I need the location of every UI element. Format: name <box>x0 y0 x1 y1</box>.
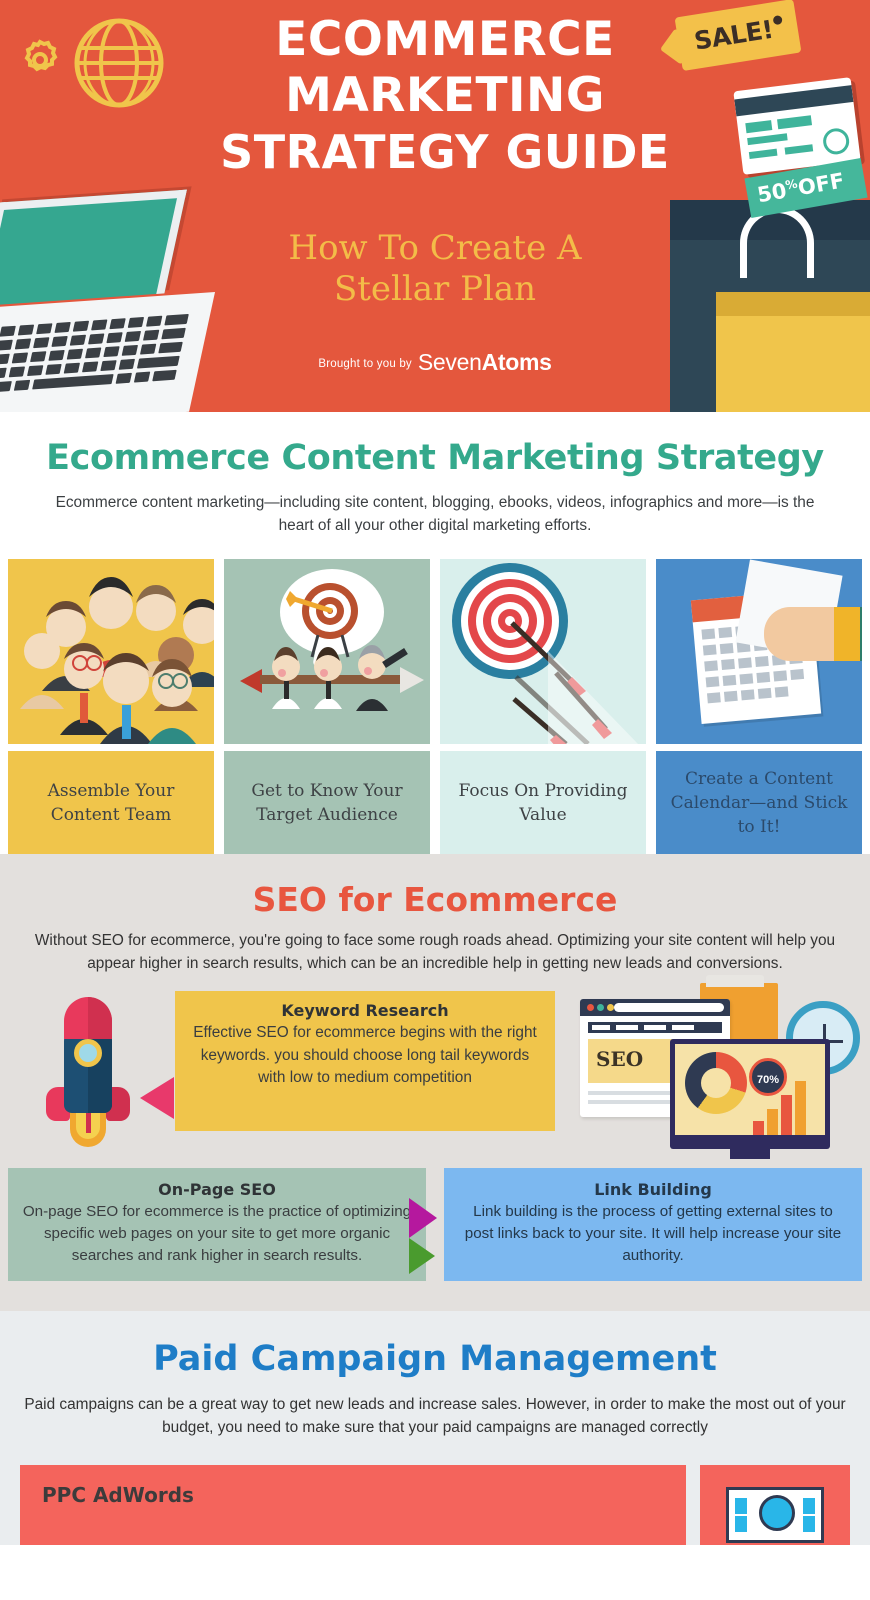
brand-attribution: Brought to you bySevenAtoms <box>0 349 870 376</box>
calendar-cell <box>773 670 787 681</box>
seo-label-block: SEO <box>588 1039 674 1083</box>
brand-part-one: Seven <box>418 349 482 375</box>
seo-row-keyword: Keyword Research Effective SEO for ecomm… <box>0 985 870 1150</box>
calendar-cell <box>755 656 769 667</box>
browser-navbar <box>588 1022 722 1033</box>
calendar-cell <box>718 627 732 638</box>
subtitle-line-1: How To Create A <box>0 228 870 269</box>
bullseye-arrows-icon <box>440 559 646 744</box>
money-icon-card <box>700 1465 850 1545</box>
page-title: ECOMMERCE MARKETING STRATEGY GUIDE <box>0 12 870 180</box>
link-building-title: Link Building <box>458 1180 848 1199</box>
calendar-cell <box>756 672 770 683</box>
monitor-screen: 70% <box>675 1044 825 1135</box>
calendar-cell <box>741 689 755 700</box>
onpage-seo-body: On-page SEO for ecommerce is the practic… <box>22 1199 412 1267</box>
seo-label-text: SEO <box>596 1047 643 1071</box>
bar <box>781 1095 792 1135</box>
infographic-page: SALE! 50%OFF <box>0 0 870 1545</box>
content-marketing-section: Ecommerce Content Marketing Strategy Eco… <box>0 412 870 854</box>
sleeve <box>860 607 862 661</box>
link-building-body: Link building is the process of getting … <box>458 1199 848 1267</box>
calendar-cell <box>706 676 720 687</box>
content-card-providing-value[interactable]: Focus On Providing Value <box>440 559 646 854</box>
nav-item <box>672 1025 694 1030</box>
donut-hole <box>701 1068 731 1098</box>
banknote-icon <box>726 1487 824 1543</box>
content-card-caption: Assemble Your Content Team <box>8 751 214 854</box>
sleeve-cuff <box>834 607 862 661</box>
pink-arrow-icon <box>140 1077 174 1119</box>
calendar-cell <box>724 691 738 702</box>
calendar-cell <box>703 644 717 655</box>
title-line-1: ECOMMERCE <box>130 12 760 68</box>
folder-tab <box>706 975 764 987</box>
group-of-people-icon <box>8 559 214 744</box>
nav-item <box>644 1025 666 1030</box>
content-section-intro: Ecommerce content marketing—including si… <box>0 478 870 537</box>
bar <box>795 1081 806 1135</box>
banknote-center-circle <box>759 1495 795 1531</box>
calendar-cell <box>790 669 804 680</box>
rocket-icon <box>44 995 130 1145</box>
calendar-cell <box>758 688 772 699</box>
title-line-2: MARKETING <box>130 68 760 124</box>
seo-section-heading: SEO for Ecommerce <box>0 880 870 919</box>
calendar-cell <box>707 692 721 703</box>
content-card-caption: Focus On Providing Value <box>440 751 646 854</box>
browser-dot-yellow <box>607 1004 614 1011</box>
rocket-window <box>74 1039 102 1067</box>
keyword-research-body: Effective SEO for ecommerce begins with … <box>193 1020 537 1090</box>
browser-url-bar <box>614 1003 724 1012</box>
calendar-cell <box>723 675 737 686</box>
content-cards-row: Assemble Your Content Team <box>0 537 870 854</box>
banknote-corner <box>803 1498 815 1514</box>
keyword-research-title: Keyword Research <box>193 1001 537 1020</box>
content-card-caption: Get to Know Your Target Audience <box>224 751 430 854</box>
rocket-nose-shade <box>88 997 112 1039</box>
keyword-research-box[interactable]: Keyword Research Effective SEO for ecomm… <box>175 991 555 1131</box>
paid-section-intro: Paid campaigns can be a great way to get… <box>0 1379 870 1439</box>
seo-row-boxes: On-Page SEO On-page SEO for ecommerce is… <box>0 1150 870 1281</box>
sevenatoms-logo: SevenAtoms <box>418 349 552 375</box>
ppc-adwords-label: PPC AdWords <box>42 1483 686 1507</box>
paid-section-heading: Paid Campaign Management <box>0 1339 870 1379</box>
paid-cards-row: PPC AdWords <box>0 1439 870 1545</box>
onpage-seo-box[interactable]: On-Page SEO On-page SEO for ecommerce is… <box>8 1168 426 1281</box>
calendar-cell <box>775 686 789 697</box>
banknote-corner <box>803 1516 815 1532</box>
brand-part-two: Atoms <box>482 349 552 375</box>
discount-number: 50 <box>755 179 788 208</box>
browser-dot-green <box>597 1004 604 1011</box>
seo-section-intro: Without SEO for ecommerce, you're going … <box>0 919 870 975</box>
hand-calendar-icon <box>656 559 862 744</box>
onpage-seo-title: On-Page SEO <box>22 1180 412 1199</box>
brought-to-you-by-label: Brought to you by <box>318 358 412 370</box>
ppc-adwords-card[interactable]: PPC AdWords <box>20 1465 686 1545</box>
calendar-cell <box>720 643 734 654</box>
calendar-cell <box>701 629 715 640</box>
nav-item <box>616 1025 638 1030</box>
seo-illustration: SEO 70% <box>572 979 862 1154</box>
content-card-assemble-team[interactable]: Assemble Your Content Team <box>8 559 214 854</box>
banknote-corner <box>735 1516 747 1532</box>
hero-subtitle: How To Create A Stellar Plan <box>0 228 870 310</box>
title-line-3: STRATEGY GUIDE <box>130 124 760 180</box>
content-card-content-calendar[interactable]: Create a Content Calendar—and Stick to I… <box>656 559 862 854</box>
bar <box>753 1121 764 1135</box>
monitor-dashboard-icon: 70% <box>670 1039 830 1149</box>
link-building-box[interactable]: Link Building Link building is the proce… <box>444 1168 862 1281</box>
browser-titlebar <box>580 999 730 1016</box>
content-card-caption: Create a Content Calendar—and Stick to I… <box>656 751 862 854</box>
nav-item <box>592 1025 610 1030</box>
content-card-target-audience[interactable]: Get to Know Your Target Audience <box>224 559 430 854</box>
paid-campaign-section: Paid Campaign Management Paid campaigns … <box>0 1311 870 1545</box>
donut-chart <box>685 1052 747 1114</box>
hand-icon <box>764 607 856 661</box>
banknote-corner <box>735 1498 747 1514</box>
calendar-cell <box>704 660 718 671</box>
content-section-heading: Ecommerce Content Marketing Strategy <box>0 438 870 478</box>
magenta-arrow-icon <box>409 1198 437 1238</box>
bar <box>767 1109 778 1135</box>
percent-badge: 70% <box>749 1058 787 1096</box>
seo-section: SEO for Ecommerce Without SEO for ecomme… <box>0 854 870 1311</box>
calendar-cell <box>739 673 753 684</box>
hero-banner: SALE! 50%OFF <box>0 0 870 412</box>
green-arrow-icon <box>409 1238 435 1274</box>
calendar-cell <box>738 657 752 668</box>
browser-dot-red <box>587 1004 594 1011</box>
subtitle-line-2: Stellar Plan <box>0 269 870 310</box>
calendar-cell <box>721 659 735 670</box>
team-arrow-target-icon <box>224 559 430 744</box>
